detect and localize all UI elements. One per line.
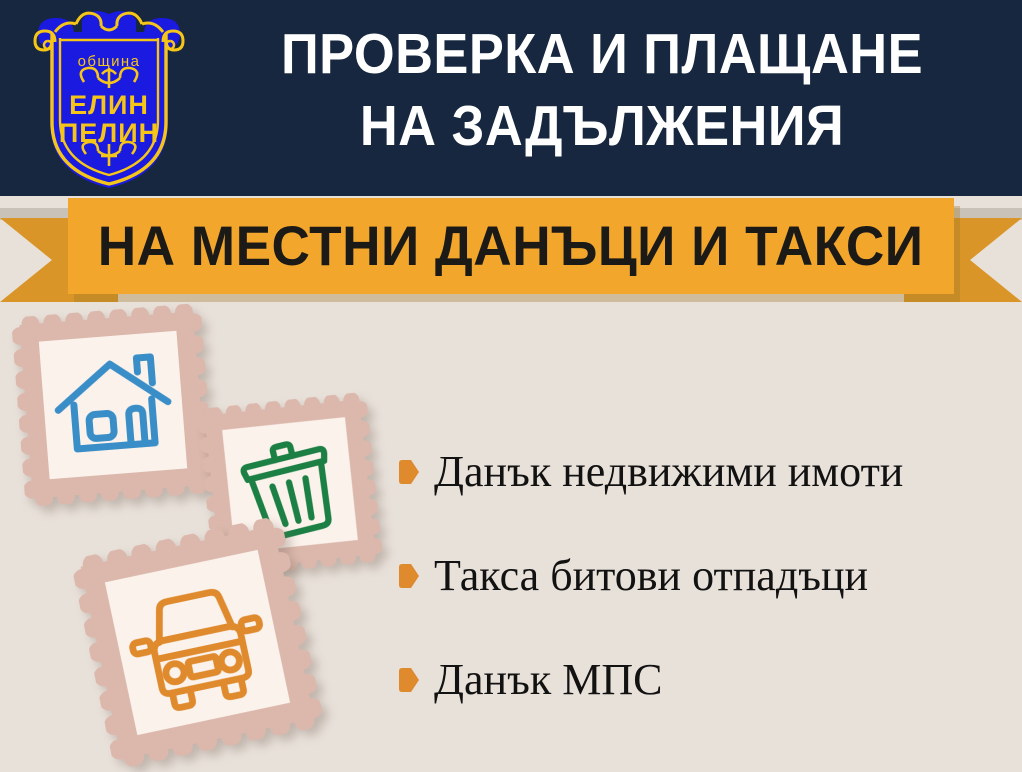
list-item-label: Данък недвижими имоти bbox=[434, 447, 903, 497]
stamp-vehicle-car bbox=[70, 515, 325, 770]
bullet-arrow-icon bbox=[398, 459, 420, 485]
ribbon-band: НА МЕСТНИ ДАНЪЦИ И ТАКСИ bbox=[68, 198, 954, 294]
poster-root: община ЕЛИН ПЕЛИН bbox=[0, 0, 1022, 772]
stamp-property-house bbox=[11, 303, 215, 507]
list-item[interactable]: Такса битови отпадъци bbox=[398, 524, 1018, 628]
subtitle-ribbon: НА МЕСТНИ ДАНЪЦИ И ТАКСИ bbox=[0, 196, 1022, 306]
stamp-collage bbox=[0, 300, 400, 770]
title-line-2: НА ЗАДЪЛЖЕНИЯ bbox=[228, 90, 975, 162]
list-item[interactable]: Данък недвижими имоти bbox=[398, 420, 1018, 524]
municipality-logo: община ЕЛИН ПЕЛИН bbox=[22, 4, 196, 194]
title-line-1: ПРОВЕРКА И ПЛАЩАНЕ bbox=[228, 18, 975, 90]
svg-text:ЕЛИН: ЕЛИН bbox=[69, 90, 149, 120]
list-item[interactable]: Данък МПС bbox=[398, 628, 1018, 732]
bullet-arrow-icon bbox=[398, 563, 420, 589]
header-bar: община ЕЛИН ПЕЛИН bbox=[0, 0, 1022, 196]
bullet-arrow-icon bbox=[398, 667, 420, 693]
poster-title: ПРОВЕРКА И ПЛАЩАНЕ НА ЗАДЪЛЖЕНИЯ bbox=[196, 18, 1008, 162]
list-item-label: Такса битови отпадъци bbox=[434, 551, 868, 601]
svg-text:ПЕЛИН: ПЕЛИН bbox=[59, 118, 159, 148]
list-item-label: Данък МПС bbox=[434, 655, 662, 705]
tax-type-list: Данък недвижими имоти Такса битови отпад… bbox=[398, 420, 1018, 732]
ribbon-label: НА МЕСТНИ ДАНЪЦИ И ТАКСИ bbox=[98, 218, 924, 274]
